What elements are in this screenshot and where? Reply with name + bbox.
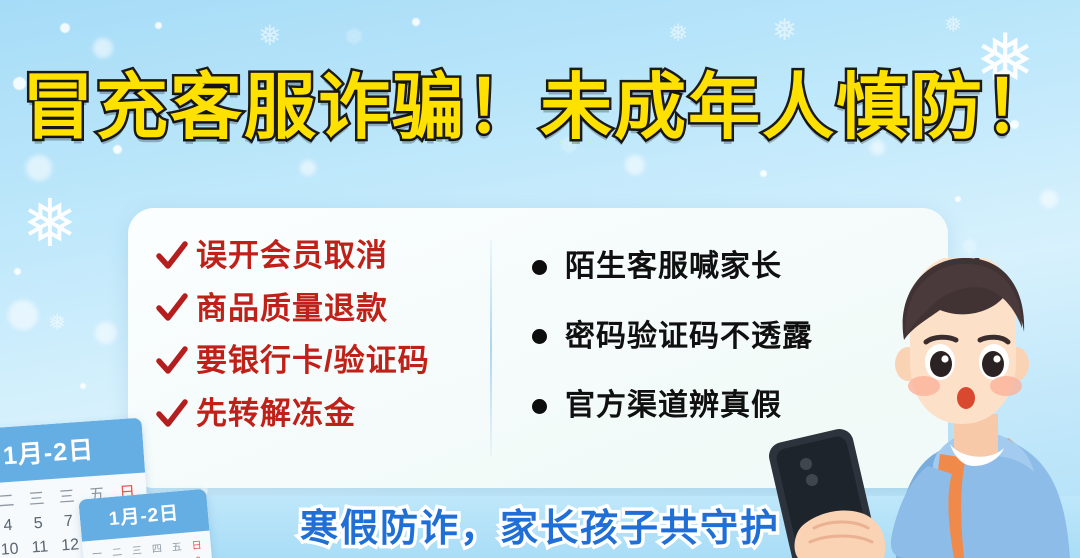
snow-dot <box>60 23 70 33</box>
snow-dot <box>300 160 316 176</box>
check-mark-icon <box>155 344 189 378</box>
snowflake-icon: ❅ <box>772 16 797 46</box>
calendar-decoration-small: 1月-2日 一 二 三 四 五 日 2 3 4 5 6 7 8 9 10 11 … <box>78 489 215 558</box>
snowflake-icon: ❅ <box>960 236 978 258</box>
calendar-day: 10 <box>0 540 25 558</box>
calendar-weekday: 三 <box>126 541 147 558</box>
snow-dot <box>955 196 961 202</box>
snow-dot <box>412 18 420 26</box>
right-item-label: 陌生客服喊家长 <box>565 250 782 285</box>
snow-dot <box>760 170 767 177</box>
snow-dot <box>155 22 162 29</box>
check-mark-icon <box>155 239 189 273</box>
poster-headline: 冒充客服诈骗！未成年人慎防！ <box>0 48 1080 153</box>
calendar-weekday: 二 <box>106 543 127 558</box>
left-warning-list: 误开会员取消 商品质量退款 要银 <box>128 208 490 488</box>
snow-dot <box>625 155 645 175</box>
poster-canvas: ❅ ❅ ❅ ❅ ❅ ❅ ❅ ❅ ❅ ❅ ❅ ❅ 冒充客服诈骗！未成年人慎防！ 误… <box>0 0 1080 558</box>
list-item: 商品质量退款 <box>155 291 490 327</box>
calendar-weekday: 四 <box>146 539 167 556</box>
check-mark-icon <box>155 291 189 325</box>
snowflake-icon: ❅ <box>48 312 66 334</box>
snow-dot <box>80 383 86 389</box>
calendar-day: 4 <box>0 516 24 536</box>
check-mark-icon <box>155 397 189 431</box>
snowflake-icon: ❅ <box>258 22 281 50</box>
calendar-weekday: 一 <box>86 545 107 558</box>
snow-dot <box>14 268 21 275</box>
calendar-weekday: 二 <box>0 486 22 512</box>
left-item-label: 要银行卡/验证码 <box>196 343 430 379</box>
left-item-label: 先转解冻金 <box>196 396 356 432</box>
calendar-weekday: 五 <box>166 538 187 555</box>
snow-dot <box>1040 190 1058 208</box>
snowflake-icon: ❅ <box>944 14 962 36</box>
snowflake-icon: ❅ <box>668 22 688 46</box>
calendar-weekday: 三 <box>20 484 52 510</box>
right-item-label: 官方渠道辨真假 <box>565 389 782 424</box>
list-item: 要银行卡/验证码 <box>155 343 490 379</box>
left-item-label: 商品质量退款 <box>196 291 388 327</box>
bullet-dot-icon <box>532 399 547 414</box>
snowflake-icon: ❅ <box>22 190 77 256</box>
snow-dot <box>95 322 117 344</box>
calendar-weekday: 日 <box>186 536 207 553</box>
snowflake-icon: ❅ <box>344 26 364 50</box>
bullet-dot-icon <box>532 260 547 275</box>
list-item: 先转解冻金 <box>155 396 490 432</box>
left-item-label: 误开会员取消 <box>196 238 388 274</box>
snow-dot <box>26 155 52 181</box>
list-item: 误开会员取消 <box>155 238 490 274</box>
bullet-dot-icon <box>532 329 547 344</box>
calendar-weekday: 三 <box>51 482 83 508</box>
boy-with-smartphone-illustration <box>758 258 1080 558</box>
calendar-day: 5 <box>23 514 55 534</box>
snow-dot <box>8 300 38 330</box>
calendar-day: 11 <box>24 538 56 558</box>
